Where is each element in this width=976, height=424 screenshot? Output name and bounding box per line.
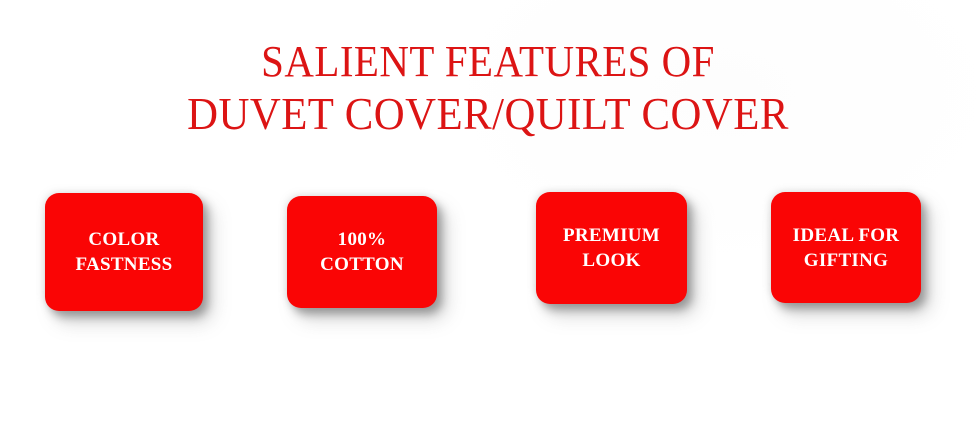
salient-features-poster: SALIENT FEATURES OF DUVET COVER/QUILT CO…: [0, 0, 976, 424]
feature-card-label: 100% COTTON: [312, 227, 412, 277]
feature-card-100-cotton: 100% COTTON: [287, 196, 437, 308]
feature-card-ideal-for-gifting: IDEAL FOR GIFTING: [771, 192, 921, 303]
title-line-1: SALIENT FEATURES OF: [34, 36, 942, 88]
feature-card-premium-look: PREMIUM LOOK: [536, 192, 687, 304]
page-title: SALIENT FEATURES OF DUVET COVER/QUILT CO…: [0, 36, 976, 140]
feature-card-label: IDEAL FOR GIFTING: [785, 223, 908, 273]
feature-card-label: COLOR FASTNESS: [67, 227, 180, 277]
feature-card-color-fastness: COLOR FASTNESS: [45, 193, 203, 311]
title-line-2: DUVET COVER/QUILT COVER: [34, 88, 942, 140]
feature-card-label: PREMIUM LOOK: [555, 223, 668, 273]
